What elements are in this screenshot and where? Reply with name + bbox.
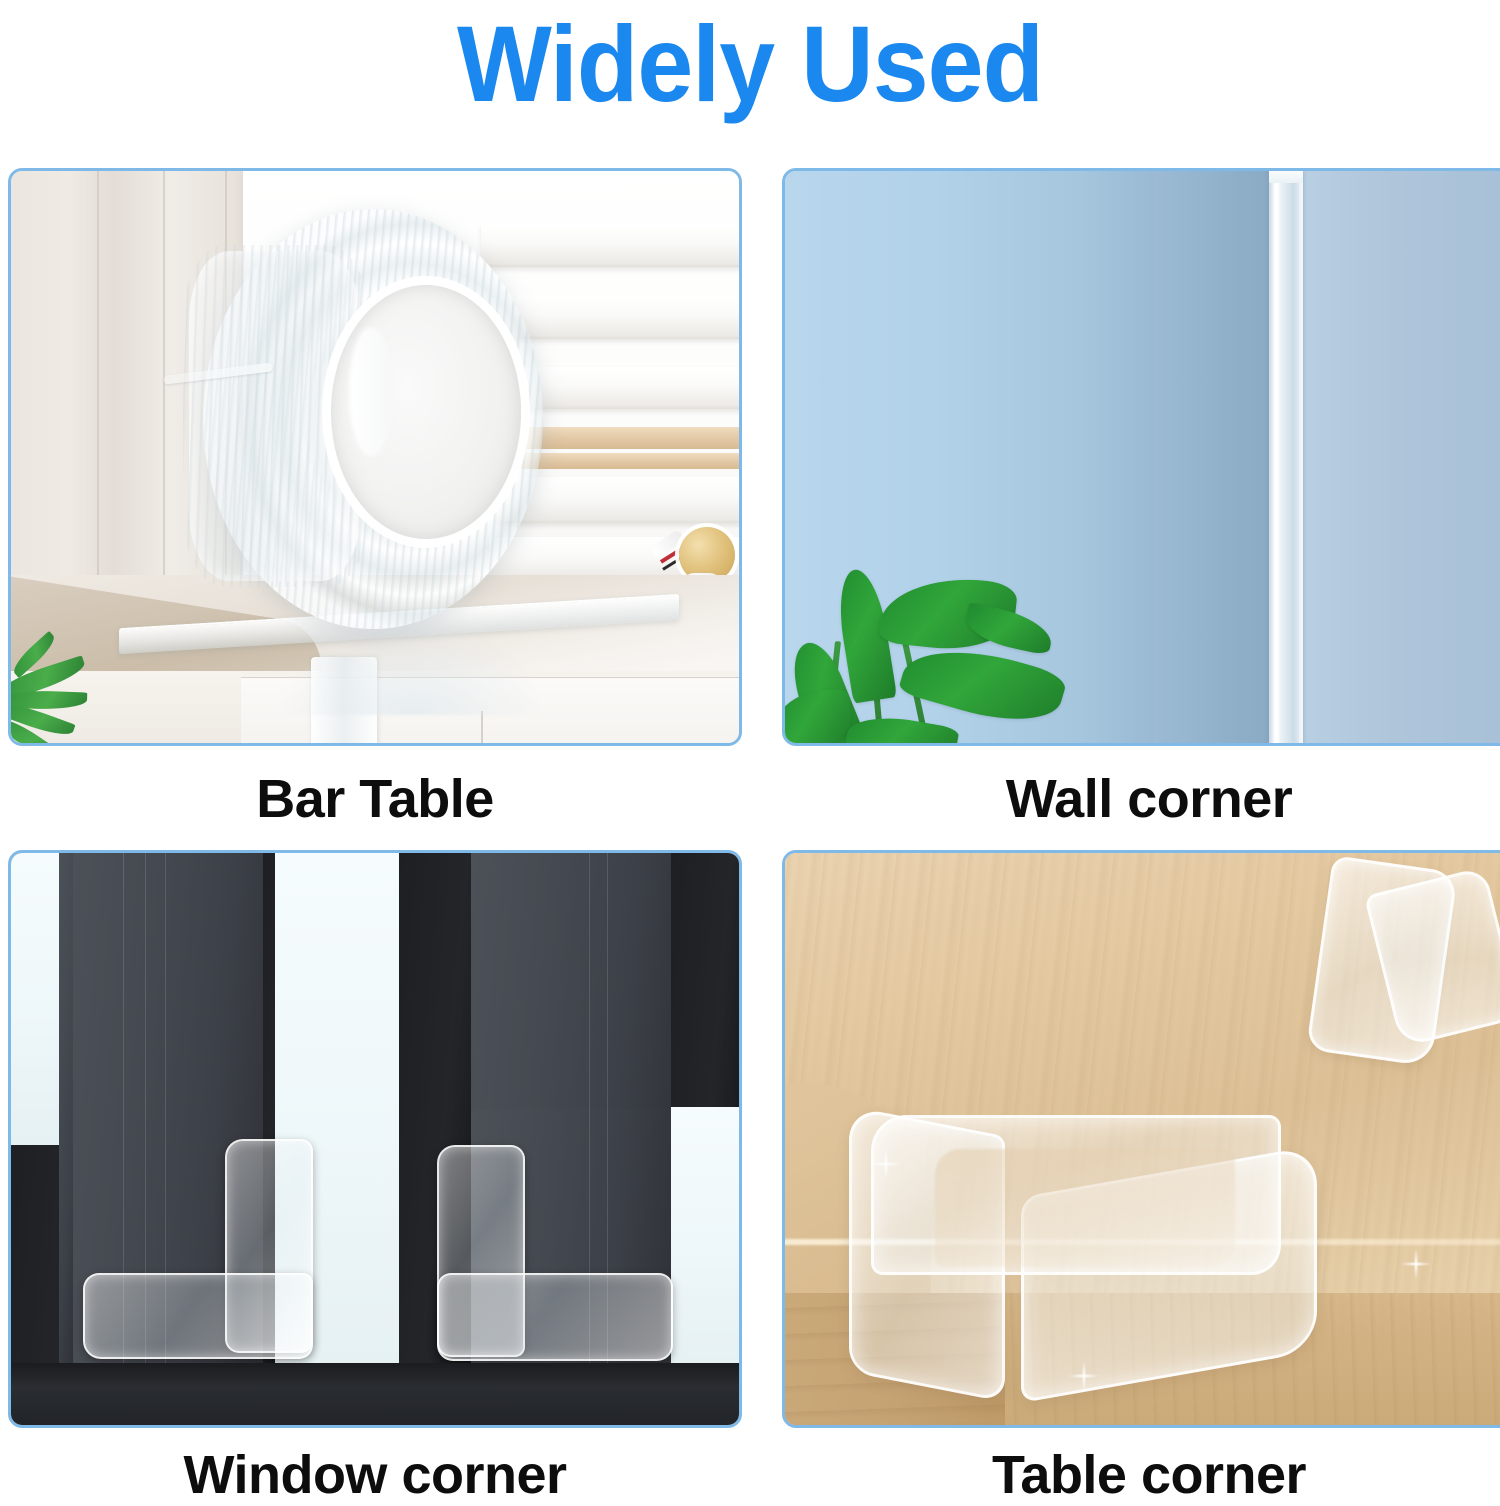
frame-groove-line [607,850,608,1109]
window-frame-edge [59,850,73,1369]
scenario-photo-wall-corner [782,168,1500,746]
sparkle-icon [1061,1353,1107,1399]
tape-roll [163,199,583,659]
scenario-caption-table-corner: Table corner [782,1444,1500,1506]
tape-roll-core-highlight [349,327,393,457]
scenario-photo-window-corner [8,850,742,1428]
frame-groove-line [589,850,590,1109]
corner-guard-highlight [1274,177,1279,746]
scenario-caption-bar-table: Bar Table [8,768,742,830]
glass-pane-right [671,1105,742,1365]
corner-guard-left-horizontal [83,1273,313,1359]
scenario-card-bar-table: Bar Table [8,168,742,830]
corner-guard-right-horizontal [437,1273,673,1361]
sparkle-icon [863,1141,909,1187]
window-frame-right-sash-top [471,850,691,1109]
corner-guard-inner-reflection [935,1149,1235,1267]
scenario-photo-table-corner [782,850,1500,1428]
usage-scenarios-grid: Bar Table Wall corner [8,168,1492,1488]
scenario-card-window-corner: Window corner [8,850,742,1506]
wall-surface-right [1299,171,1500,743]
scenario-caption-window-corner: Window corner [8,1444,742,1506]
window-sill [11,1363,739,1425]
scenario-card-table-corner: Table corner [782,850,1500,1506]
scenario-card-wall-corner: Wall corner [782,168,1500,830]
corner-guard-top-cap [1269,168,1303,183]
page-title: Widely Used [53,4,1448,124]
cabinet-seam [481,711,483,746]
scenario-photo-bar-table [8,168,742,746]
tape-roll-reflection [281,619,541,715]
sparkle-icon [1393,1241,1439,1287]
scenario-caption-wall-corner: Wall corner [782,768,1500,830]
window-frame-corner-right [671,850,742,1107]
glass-pane-left [8,850,59,1145]
